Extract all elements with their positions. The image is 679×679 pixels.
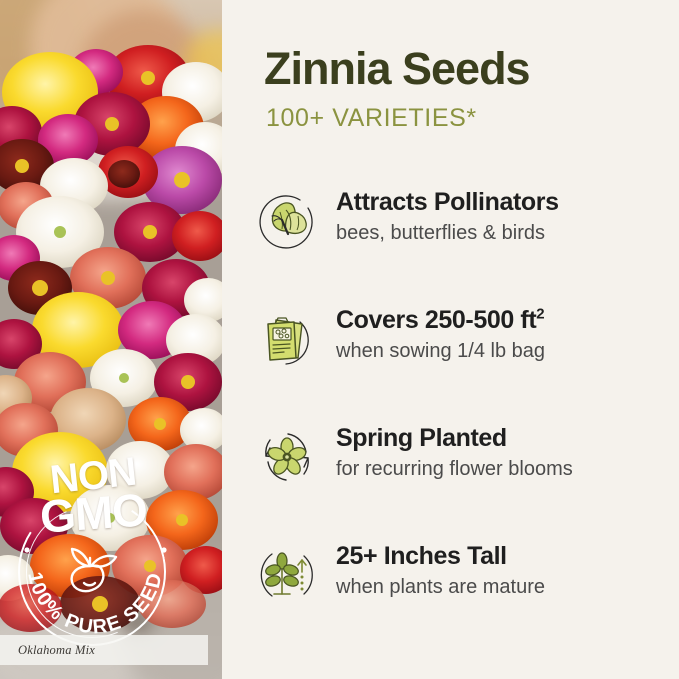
plant-height-icon — [256, 544, 318, 606]
feature-headline: Covers 250-500 ft2 — [336, 306, 676, 336]
feature-list: Attracts Pollinators bees, butterflies &… — [256, 182, 676, 654]
feature-item-coverage: Covers 250-500 ft2 when sowing 1/4 lb ba… — [256, 300, 676, 418]
feature-text-height: 25+ Inches Tall when plants are mature — [336, 542, 676, 600]
feature-subtext: bees, butterflies & birds — [336, 221, 676, 246]
photo-caption-bar: Oklahoma Mix — [0, 635, 208, 665]
non-gmo-badge: NON GMO 100% PURE SEED — [12, 452, 178, 628]
feature-headline-main: Covers 250-500 ft — [336, 306, 536, 334]
flower-cycle-icon — [256, 426, 318, 488]
feature-headline: Attracts Pollinators — [336, 188, 676, 218]
feature-text-coverage: Covers 250-500 ft2 when sowing 1/4 lb ba… — [336, 306, 676, 364]
photo-caption: Oklahoma Mix — [0, 643, 95, 658]
page-subtitle: 100+ VARIETIES* — [266, 106, 477, 131]
butterfly-icon — [256, 190, 318, 252]
feature-item-pollinators: Attracts Pollinators bees, butterflies &… — [256, 182, 676, 300]
product-infographic: NON GMO 100% PURE SEED — [0, 0, 679, 679]
feature-subtext: when plants are mature — [336, 575, 676, 600]
feature-subtext: when sowing 1/4 lb bag — [336, 339, 676, 364]
feature-text-season: Spring Planted for recurring flower bloo… — [336, 424, 676, 482]
badge-arc-text: 100% PURE SEED — [12, 488, 178, 654]
feature-subtext: for recurring flower blooms — [336, 457, 676, 482]
feature-headline: Spring Planted — [336, 424, 676, 454]
page-title: Zinnia Seeds — [264, 46, 530, 91]
badge-arc-label: 100% PURE SEED — [23, 570, 167, 639]
feature-headline: 25+ Inches Tall — [336, 542, 676, 572]
feature-text-pollinators: Attracts Pollinators bees, butterflies &… — [336, 188, 676, 246]
feature-item-height: 25+ Inches Tall when plants are mature — [256, 536, 676, 654]
feature-headline-superscript: 2 — [536, 306, 544, 323]
content-panel: Zinnia Seeds 100+ VARIETIES* — [222, 0, 679, 679]
feature-item-season: Spring Planted for recurring flower bloo… — [256, 418, 676, 536]
seed-packet-icon — [256, 308, 318, 370]
product-photo: NON GMO 100% PURE SEED — [0, 0, 222, 679]
